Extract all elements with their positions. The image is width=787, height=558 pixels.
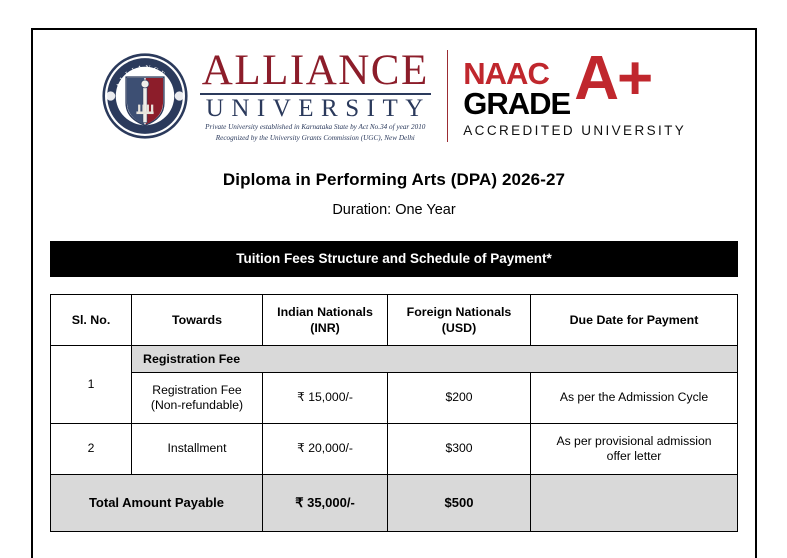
naac-grade-value: A+ (574, 55, 651, 103)
cell-towards-2: Installment (132, 424, 263, 475)
letterhead-logo-band: ALLIANCE UNIVERSITY (50, 30, 738, 148)
column-header-inr-line2: (INR) (310, 321, 340, 335)
naac-accreditation-logo: NAAC GRADE A+ ACCREDITED UNIVERSITY (463, 54, 686, 138)
table-row: 1 Registration Fee (51, 346, 738, 373)
cell-sl-no-1: 1 (51, 346, 132, 424)
wordmark-university: UNIVERSITY (200, 96, 431, 121)
cell-due-2: As per provisional admission offer lette… (531, 424, 738, 475)
table-header: Sl. No. Towards Indian Nationals (INR) F… (51, 295, 738, 346)
cell-inr-1: ₹ 15,000/- (263, 373, 388, 424)
column-header-foreign-nationals: Foreign Nationals (USD) (388, 295, 531, 346)
table-row: Registration Fee (Non-refundable) ₹ 15,0… (51, 373, 738, 424)
logo-divider (447, 50, 449, 142)
cell-due-1: As per the Admission Cycle (531, 373, 738, 424)
column-header-due-date: Due Date for Payment (531, 295, 738, 346)
fee-structure-table: Sl. No. Towards Indian Nationals (INR) F… (50, 294, 738, 532)
section-banner: Tuition Fees Structure and Schedule of P… (50, 241, 738, 277)
alliance-university-crest-icon: ALLIANCE UNIVERSITY (102, 53, 188, 139)
table-header-row: Sl. No. Towards Indian Nationals (INR) F… (51, 295, 738, 346)
wordmark-fineprint-line1: Private University established in Karnat… (200, 123, 431, 133)
page-subtitle: Duration: One Year (50, 202, 738, 218)
cell-usd-2: $300 (388, 424, 531, 475)
page-content: ALLIANCE UNIVERSITY (33, 30, 755, 532)
cell-group-registration-fee: Registration Fee (132, 346, 738, 373)
column-header-sl-no: Sl. No. (51, 295, 132, 346)
cell-total-due (531, 475, 738, 532)
document-page: ALLIANCE UNIVERSITY (31, 28, 757, 558)
cell-inr-2: ₹ 20,000/- (263, 424, 388, 475)
wordmark-fineprint-line2: Recognized by the University Grants Comm… (200, 134, 431, 144)
wordmark-alliance: ALLIANCE (200, 50, 431, 92)
cell-total-label: Total Amount Payable (51, 475, 263, 532)
table-row-total: Total Amount Payable ₹ 35,000/- $500 (51, 475, 738, 532)
cell-due-2-line1: As per provisional admission (556, 434, 711, 448)
table-body: 1 Registration Fee Registration Fee (Non… (51, 346, 738, 532)
table-row: 2 Installment ₹ 20,000/- $300 As per pro… (51, 424, 738, 475)
column-header-inr-line1: Indian Nationals (277, 305, 373, 319)
naac-label: NAAC (463, 60, 570, 89)
cell-towards-1-line1: Registration Fee (152, 383, 241, 397)
column-header-usd-line2: (USD) (442, 321, 476, 335)
cell-sl-no-2: 2 (51, 424, 132, 475)
alliance-university-wordmark: ALLIANCE UNIVERSITY Private University e… (200, 48, 431, 144)
cell-due-2-line2: offer letter (607, 449, 662, 463)
cell-towards-1-line2: (Non-refundable) (151, 398, 243, 412)
page-title: Diploma in Performing Arts (DPA) 2026-27 (50, 170, 738, 190)
naac-top-row: NAAC GRADE A+ (463, 58, 686, 118)
naac-grade-label: GRADE (463, 89, 570, 118)
cell-total-usd: $500 (388, 475, 531, 532)
column-header-usd-line1: Foreign Nationals (407, 305, 512, 319)
column-header-indian-nationals: Indian Nationals (INR) (263, 295, 388, 346)
column-header-towards: Towards (132, 295, 263, 346)
cell-total-inr: ₹ 35,000/- (263, 475, 388, 532)
cell-usd-1: $200 (388, 373, 531, 424)
cell-towards-1: Registration Fee (Non-refundable) (132, 373, 263, 424)
naac-accredited-label: ACCREDITED UNIVERSITY (463, 123, 686, 138)
naac-text-block: NAAC GRADE (463, 58, 570, 118)
